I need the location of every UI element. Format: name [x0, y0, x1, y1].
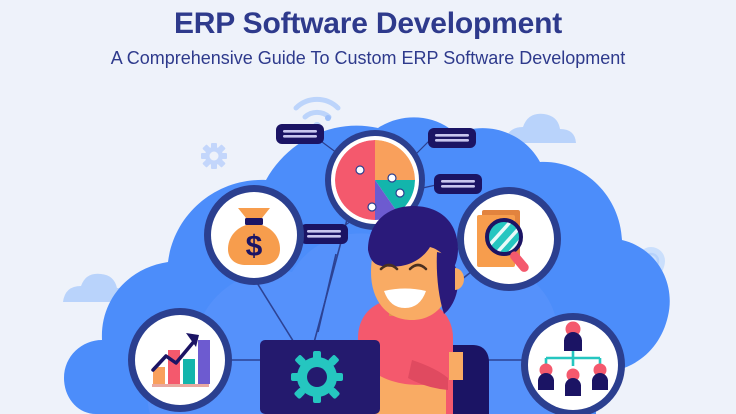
dot-decor-2	[325, 115, 331, 121]
header: ERP Software Development A Comprehensive…	[0, 0, 736, 68]
tag-card-3	[434, 174, 482, 194]
tag-card-2	[428, 128, 476, 148]
page-title: ERP Software Development	[0, 0, 736, 41]
gear-icon-hole	[307, 367, 327, 387]
org-chart-icon	[521, 313, 625, 414]
bar-chart-icon	[128, 308, 232, 412]
tag-card-1	[276, 124, 324, 144]
illustration-canvas: ERP Software Development A Comprehensive…	[0, 0, 736, 414]
document-search-icon	[457, 187, 561, 291]
page-subtitle: A Comprehensive Guide To Custom ERP Soft…	[0, 41, 736, 69]
laptop	[260, 340, 380, 414]
svg-text:$: $	[246, 230, 263, 263]
money-bag-icon: $	[204, 185, 304, 285]
gear-icon-decor-hole	[210, 152, 219, 161]
tag-card-4	[300, 224, 348, 244]
